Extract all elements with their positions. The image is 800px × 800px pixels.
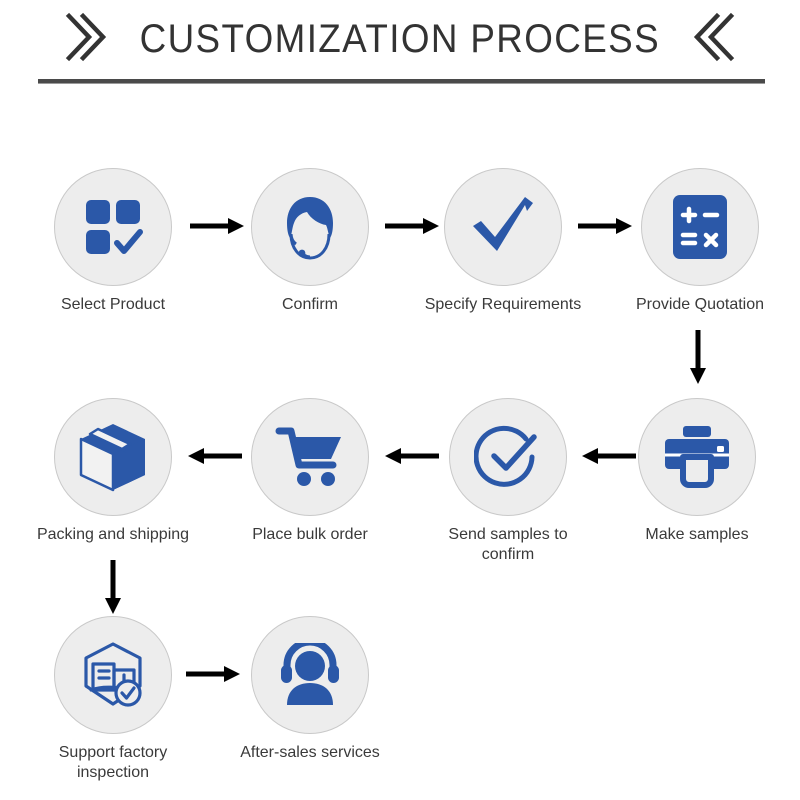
- step-icon-circle: [638, 398, 756, 516]
- step-node-send-samples-to-confirm[interactable]: Send samples to confirm: [423, 398, 593, 566]
- step-node-select-product[interactable]: Select Product: [28, 168, 198, 315]
- step-label: Make samples: [612, 525, 782, 545]
- step-icon-circle: [641, 168, 759, 286]
- step-node-place-bulk-order[interactable]: Place bulk order: [225, 398, 395, 545]
- calculator-icon: [671, 193, 729, 261]
- step-label: Support factory inspection: [28, 743, 198, 784]
- step-node-make-samples[interactable]: Make samples: [612, 398, 782, 545]
- step-icon-circle: [251, 616, 369, 734]
- checkmark-icon: [469, 193, 537, 261]
- step-icon-circle: [251, 168, 369, 286]
- circle-check-icon: [474, 423, 542, 491]
- step-label: Place bulk order: [225, 525, 395, 545]
- step-icon-circle: [449, 398, 567, 516]
- shopping-cart-icon: [275, 425, 345, 489]
- printer-icon: [663, 425, 731, 489]
- headset-agent-icon: [275, 192, 345, 262]
- step-node-confirm[interactable]: Confirm: [225, 168, 395, 315]
- step-label: Provide Quotation: [615, 295, 785, 315]
- step-icon-circle: [444, 168, 562, 286]
- step-node-after-sales-services[interactable]: After-sales services: [225, 616, 395, 763]
- factory-shield-check-icon: [78, 640, 148, 710]
- step-label: Specify Requirements: [418, 295, 588, 315]
- step-label: Packing and shipping: [28, 525, 198, 545]
- step-icon-circle: [54, 398, 172, 516]
- connector-arrow-down: [103, 560, 123, 616]
- step-icon-circle: [251, 398, 369, 516]
- title-divider: [38, 79, 765, 84]
- package-box-icon: [78, 422, 148, 492]
- step-label: Send samples to confirm: [423, 525, 593, 566]
- step-icon-circle: [54, 168, 172, 286]
- step-label: After-sales services: [225, 743, 395, 763]
- page-title: CUSTOMIZATION PROCESS: [140, 19, 660, 59]
- support-person-icon: [275, 643, 345, 707]
- step-icon-circle: [54, 616, 172, 734]
- double-chevron-left-icon: [693, 12, 737, 67]
- step-node-specify-requirements[interactable]: Specify Requirements: [418, 168, 588, 315]
- step-label: Confirm: [225, 295, 395, 315]
- title-row: CUSTOMIZATION PROCESS: [0, 10, 800, 68]
- connector-arrow-down: [688, 330, 708, 386]
- grid-check-icon: [82, 196, 144, 258]
- step-node-support-factory-inspection[interactable]: Support factory inspection: [28, 616, 198, 784]
- step-node-packing-and-shipping[interactable]: Packing and shipping: [28, 398, 198, 545]
- page-header: CUSTOMIZATION PROCESS: [0, 0, 800, 95]
- double-chevron-right-icon: [63, 12, 107, 67]
- step-node-provide-quotation[interactable]: Provide Quotation: [615, 168, 785, 315]
- step-label: Select Product: [28, 295, 198, 315]
